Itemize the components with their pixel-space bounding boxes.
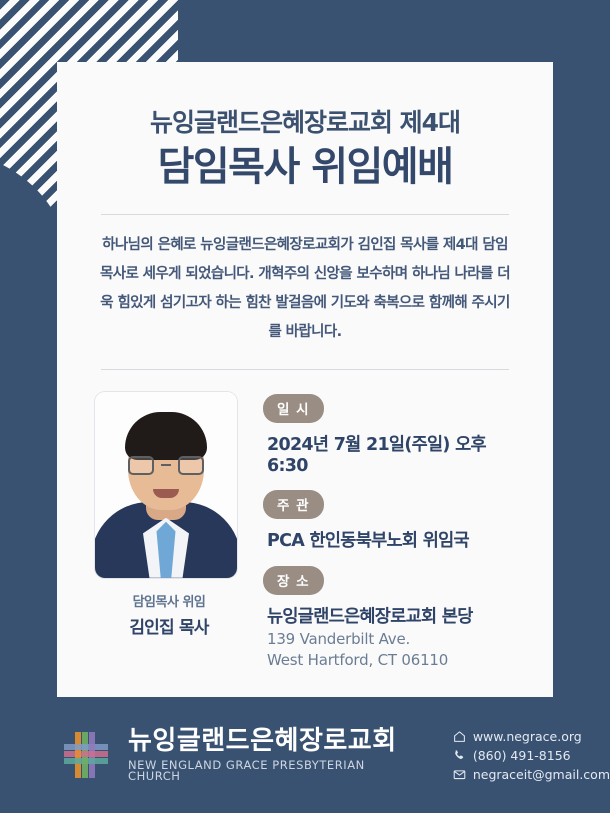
details-region: 담임목사 위임 김인집 목사 일 시 2024년 7월 21일(주일) 오후 6… [95,370,515,672]
contact-website[interactable]: www.negrace.org [453,729,610,744]
info-column: 일 시 2024년 7월 21일(주일) 오후 6:30 주 관 PCA 한인동… [263,392,515,672]
detail-block-venue: 장 소 뉴잉글랜드은혜장로교회 본당 139 Vanderbilt Ave. W… [263,566,515,672]
intro-paragraph: 하나님의 은혜로 뉴잉글랜드은혜장로교회가 김인집 목사를 제4대 담임목사로 … [95,215,515,347]
woven-cross-logo-icon [62,730,110,780]
portrait-caption-name: 김인집 목사 [95,613,243,638]
badge-venue: 장 소 [263,566,324,595]
home-icon [453,730,466,743]
poster-footer: 뉴잉글랜드은혜장로교회 NEW ENGLAND GRACE PRESBYTERI… [0,697,610,813]
logo-name-english: NEW ENGLAND GRACE PRESBYTERIAN CHURCH [128,760,409,783]
portrait-column: 담임목사 위임 김인집 목사 [95,392,243,672]
headline-title: 담임목사 위임예배 [95,143,515,192]
logo-name-korean: 뉴잉글랜드은혜장로교회 [128,728,409,754]
contact-phone[interactable]: (860) 491-8156 [453,748,610,763]
detail-value-venue: 뉴잉글랜드은혜장로교회 본당 [267,603,515,628]
detail-value-host: PCA 한인동북부노회 위임국 [267,527,515,552]
contact-phone-text: (860) 491-8156 [473,748,571,763]
headline-subtitle: 뉴잉글랜드은혜장로교회 제4대 [95,106,515,139]
pastor-portrait-photo [95,392,237,578]
contact-website-text: www.negrace.org [473,729,582,744]
portrait-caption-role: 담임목사 위임 [95,591,243,610]
headline-block: 뉴잉글랜드은혜장로교회 제4대 담임목사 위임예배 [95,62,515,192]
detail-block-host: 주 관 PCA 한인동북부노회 위임국 [263,490,515,552]
mail-icon [453,768,466,781]
contact-block: www.negrace.org (860) 491-8156 negraceit… [453,729,610,782]
detail-value-date: 2024년 7월 21일(주일) 오후 6:30 [267,431,515,476]
venue-address-line-1: 139 Vanderbilt Ave. [267,629,515,650]
logo-text-block: 뉴잉글랜드은혜장로교회 NEW ENGLAND GRACE PRESBYTERI… [128,728,409,783]
poster-card: 뉴잉글랜드은혜장로교회 제4대 담임목사 위임예배 하나님의 은혜로 뉴잉글랜드… [57,62,553,697]
contact-email-text: negraceit@gmail.com [473,767,610,782]
badge-host: 주 관 [263,490,324,519]
venue-address-line-2: West Hartford, CT 06110 [267,650,515,671]
detail-block-date: 일 시 2024년 7월 21일(주일) 오후 6:30 [263,394,515,476]
badge-date: 일 시 [263,394,324,423]
contact-email[interactable]: negraceit@gmail.com [453,767,610,782]
phone-icon [453,749,466,762]
